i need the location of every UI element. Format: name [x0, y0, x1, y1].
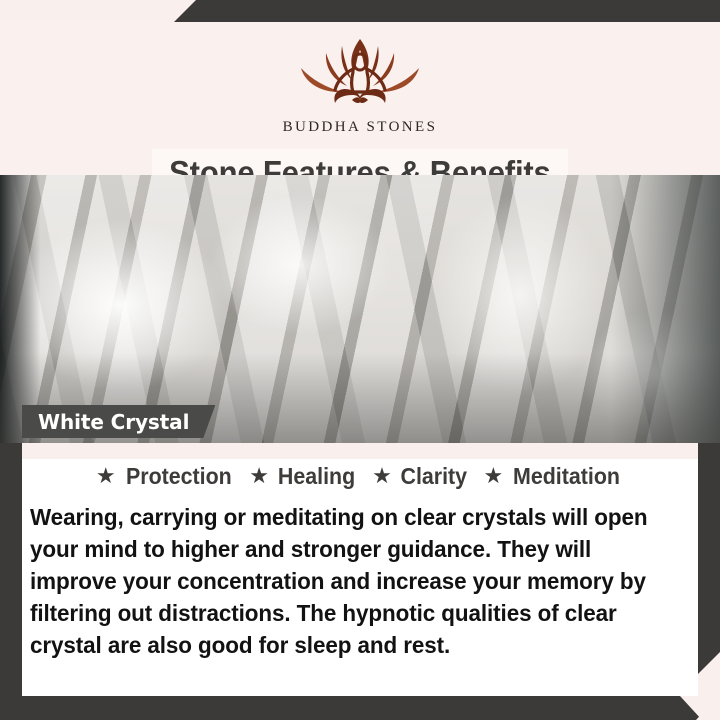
benefit-item: ★ Clarity — [372, 463, 469, 490]
benefit-label: Meditation — [513, 463, 620, 490]
benefit-item: ★ Healing — [249, 463, 358, 490]
benefit-label: Clarity — [400, 463, 467, 490]
benefit-label: Protection — [126, 463, 232, 490]
header: BUDDHA STONES Stone Features & Benefits — [0, 22, 720, 175]
star-icon: ★ — [372, 465, 392, 487]
benefits-list: ★ Protection ★ Healing ★ Clarity ★ Medit… — [22, 463, 698, 490]
brand-name: BUDDHA STONES — [0, 120, 720, 135]
benefit-item: ★ Protection — [96, 463, 235, 490]
star-icon: ★ — [249, 465, 269, 487]
star-icon: ★ — [483, 465, 503, 487]
stone-name-badge: White Crystal — [22, 405, 215, 438]
content-panel: ★ Protection ★ Healing ★ Clarity ★ Medit… — [22, 443, 698, 696]
stone-name-label: White Crystal — [38, 410, 189, 434]
stone-photo — [0, 175, 720, 443]
brand-logo: BUDDHA STONES — [0, 30, 720, 135]
lotus-meditation-figure-icon — [285, 30, 435, 118]
description-text: Wearing, carrying or meditating on clear… — [30, 501, 660, 661]
accent-strip — [22, 443, 698, 459]
frame-bottom-bar — [0, 696, 720, 720]
frame-top-bar — [0, 0, 720, 22]
star-icon: ★ — [96, 465, 116, 487]
benefit-item: ★ Meditation — [483, 463, 624, 490]
benefit-label: Healing — [278, 463, 355, 490]
infographic-card: BUDDHA STONES Stone Features & Benefits … — [0, 0, 720, 720]
